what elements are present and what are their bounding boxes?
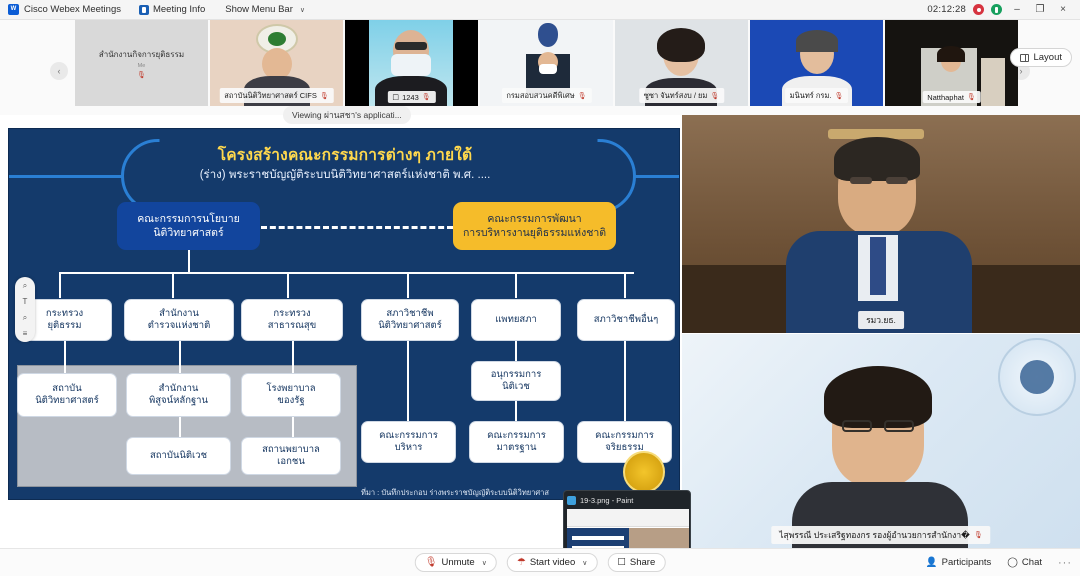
- node-standards-committee: คณะกรรมการ มาตรฐาน: [469, 421, 564, 463]
- node-line-1: คณะกรรมการนโยบาย: [137, 212, 240, 226]
- tile-self-label: Me: [138, 63, 146, 69]
- meeting-info-button[interactable]: Meeting Info: [129, 4, 215, 15]
- node-line-1: คณะกรรมการ: [487, 430, 546, 442]
- start-video-label: Start video: [530, 557, 575, 568]
- participant-tile[interactable]: สำนักงานกิจการยุติธรรม Me 🎙: [75, 20, 208, 106]
- share-label: Share: [630, 557, 655, 568]
- tile-display-name: สำนักงานกิจการยุติธรรม: [99, 48, 184, 61]
- tile-display-name: มนินทร์ กรม.: [790, 90, 832, 102]
- chevron-down-icon: ∨: [300, 6, 305, 14]
- record-stop-icon[interactable]: [973, 4, 984, 15]
- node-line-1: สภาวิชาชีพอื่นๆ: [594, 314, 659, 326]
- menu-icon[interactable]: ≡: [23, 328, 28, 339]
- close-button[interactable]: ×: [1055, 4, 1071, 15]
- tile-display-name: ซูซา จันทร์สงบ / ยม: [644, 90, 708, 102]
- node-forensic-institute: สถาบัน นิติวิทยาศาสตร์: [17, 373, 117, 417]
- filmstrip-prev-button[interactable]: ‹: [50, 62, 68, 80]
- node-line-2: นิติวิทยาศาสตร์: [378, 320, 442, 332]
- node-line-2: ของรัฐ: [277, 395, 304, 407]
- mic-muted-icon: 🎙: [320, 92, 329, 100]
- mic-muted-icon: 🎙: [710, 92, 719, 100]
- node-public-hospital: โรงพยาบาล ของรัฐ: [241, 373, 341, 417]
- node-line-2: ตำรวจแห่งชาติ: [148, 320, 210, 332]
- info-icon: [139, 5, 149, 15]
- people-icon: 👤: [926, 557, 938, 568]
- tile-display-name: 1243: [402, 93, 419, 102]
- node-line-1: สถาบันนิติเวช: [150, 450, 207, 462]
- node-line-2: การบริหารงานยุติธรรมแห่งชาติ: [463, 226, 606, 240]
- node-line-1: คณะกรรมการพัฒนา: [487, 212, 581, 226]
- mic-muted-icon: 🎙: [834, 92, 843, 100]
- chevron-down-icon[interactable]: ∨: [582, 559, 587, 567]
- connector-vertical: [188, 250, 190, 272]
- connector-vertical: [515, 341, 517, 361]
- participant-filmstrip: ‹ › สำนักงานกิจการยุติธรรม Me 🎙: [0, 20, 1080, 115]
- window-title-bar: W Cisco Webex Meetings Meeting Info Show…: [0, 0, 1080, 20]
- node-other-councils: สภาวิชาชีพอื่นๆ: [577, 299, 675, 341]
- node-line-1: สถาบัน: [52, 383, 81, 395]
- slide-subtitle: (ร่าง) พระราชบัญญัติระบบนิติวิทยาศาสตร์แ…: [9, 166, 680, 184]
- node-forensic-medicine-subcommittee: อนุกรรมการ นิติเวช: [471, 361, 561, 401]
- layout-label: Layout: [1033, 52, 1062, 63]
- node-line-2: ยุติธรรม: [47, 320, 81, 332]
- participant-tile[interactable]: สถาบันนิติวิทยาศาสตร์ CIFS 🎙: [210, 20, 343, 106]
- connector-vertical: [287, 272, 289, 298]
- node-line-2: สาธารณสุข: [268, 320, 316, 332]
- node-line-1: สถานพยาบาล: [262, 444, 320, 456]
- speaker-name: ไสุพรรณี ประเสริฐทองกร รองผู้อำนวยการสำน…: [779, 528, 970, 542]
- slide-title: โครงสร้างคณะกรรมการต่างๆ ภายใต้: [9, 142, 680, 167]
- share-button[interactable]: ☐ Share: [607, 553, 665, 572]
- node-line-2: พิสูจน์หลักฐาน: [149, 395, 208, 407]
- node-line-2: นิติวิทยาศาสตร์: [35, 395, 99, 407]
- connector-vertical: [407, 272, 409, 298]
- node-ministry-health: กระทรวง สาธารณสุข: [241, 299, 343, 341]
- more-options-button[interactable]: ···: [1058, 557, 1072, 569]
- chat-bubble-icon: ◯: [1007, 557, 1018, 568]
- viewing-status-badge: Viewing ผ่านสชา's applicati...: [283, 106, 411, 124]
- node-line-1: แพทยสภา: [495, 314, 537, 326]
- chat-button[interactable]: ◯ Chat: [1007, 557, 1042, 568]
- meeting-timer: 02:12:28: [927, 4, 966, 15]
- participants-button[interactable]: 👤 Participants: [926, 557, 991, 568]
- participant-tile[interactable]: ซูซา จันทร์สงบ / ยม 🎙: [615, 20, 748, 106]
- node-line-1: คณะกรรมการ: [379, 430, 438, 442]
- node-policy-committee: คณะกรรมการนโยบาย นิติวิทยาศาสตร์: [117, 202, 260, 250]
- connector-vertical: [179, 341, 181, 373]
- node-line-1: สำนักงาน: [159, 383, 199, 395]
- shared-content-slide[interactable]: โครงสร้างคณะกรรมการต่างๆ ภายใต้ (ร่าง) พ…: [8, 128, 680, 500]
- text-tool-icon[interactable]: T: [23, 296, 28, 307]
- maximize-button[interactable]: ❐: [1032, 4, 1048, 15]
- unmute-label: Unmute: [441, 557, 474, 568]
- titlebar-right-cluster: 02:12:28 – ❐ ×: [927, 4, 1076, 15]
- mic-muted-icon: 🎙: [425, 557, 438, 568]
- paint-app-icon: [567, 496, 576, 505]
- tile-name-badge: สถาบันนิติวิทยาศาสตร์ CIFS 🎙: [219, 88, 333, 103]
- connector-vertical: [179, 417, 181, 437]
- tile-name-badge: กรมสอบสวนคดีพิเศษ 🎙: [501, 88, 591, 103]
- unmute-button[interactable]: 🎙 Unmute ∨: [415, 553, 497, 572]
- tile-placeholder: สำนักงานกิจการยุติธรรม Me 🎙: [75, 20, 208, 106]
- connector-vertical: [624, 272, 626, 298]
- node-line-1: สำนักงาน: [159, 308, 199, 320]
- tile-display-name: Natthaphat: [927, 93, 964, 102]
- tile-display-name: กรมสอบสวนคดีพิเศษ: [506, 90, 574, 102]
- layout-button[interactable]: Layout: [1010, 48, 1072, 67]
- zoom-in-icon[interactable]: ⌕: [23, 312, 27, 323]
- connector-vertical: [515, 272, 517, 298]
- camera-off-icon: ☂: [517, 557, 526, 568]
- meeting-control-bar: 🎙 Unmute ∨ ☂ Start video ∨ ☐ Share 👤 Par…: [0, 548, 1080, 576]
- preview-ribbon: [567, 509, 689, 527]
- connector-vertical: [292, 417, 294, 437]
- connector-vertical: [515, 401, 517, 421]
- secondary-controls: 👤 Participants ◯ Chat ···: [926, 557, 1072, 569]
- connector-vertical: [59, 272, 61, 298]
- tile-display-name: สถาบันนิติวิทยาศาสตร์ CIFS: [224, 90, 317, 102]
- connector-horizontal-bus: [59, 272, 634, 274]
- tile-name-badge: มนินทร์ กรม. 🎙: [785, 88, 849, 103]
- primary-controls: 🎙 Unmute ∨ ☂ Start video ∨ ☐ Share: [415, 553, 666, 572]
- mic-muted-icon: 🎙: [974, 531, 983, 539]
- node-line-2: นิติวิทยาศาสตร์: [153, 226, 223, 240]
- participants-label: Participants: [942, 557, 992, 568]
- start-video-button[interactable]: ☂ Start video ∨: [507, 553, 598, 572]
- connector-vertical: [292, 341, 294, 373]
- video-pane-active-speaker[interactable]: รมว.ยธ.: [682, 115, 1080, 333]
- organization-emblem-icon: [623, 451, 665, 493]
- layout-icon: [1020, 54, 1029, 62]
- node-line-2: นิติเวช: [502, 381, 530, 393]
- connector-vertical: [407, 341, 409, 421]
- tile-name-badge: Natthaphat 🎙: [922, 91, 981, 103]
- minimize-button[interactable]: –: [1009, 4, 1025, 15]
- connector-vertical: [172, 272, 174, 298]
- preview-window-title: 19-3.png - Paint: [580, 496, 633, 505]
- chat-label: Chat: [1022, 557, 1042, 568]
- node-line-1: คณะกรรมการ: [595, 430, 654, 442]
- mic-muted-icon: 🎙: [967, 93, 976, 101]
- tile-name-badge: ซูซา จันทร์สงบ / ยม 🎙: [639, 88, 724, 103]
- node-line-1: สภาวิชาชีพ: [386, 308, 433, 320]
- participant-tile[interactable]: Natthaphat 🎙: [885, 20, 1018, 106]
- node-royal-police: สำนักงาน ตำรวจแห่งชาติ: [124, 299, 234, 341]
- node-line-2: เอกชน: [277, 456, 305, 468]
- mic-muted-icon: 🎙: [137, 71, 146, 79]
- mic-muted-icon: 🎙: [578, 92, 587, 100]
- node-line-2: บริหาร: [395, 442, 423, 454]
- mic-muted-icon: 🎙: [422, 93, 431, 101]
- node-line-2: มาตรฐาน: [497, 442, 537, 454]
- node-line-1: กระทรวง: [273, 308, 310, 320]
- slide-source-note: ที่มา : บันทึกประกอบ ร่างพระราชบัญญัติระ…: [361, 487, 549, 499]
- tile-name-badge: ☐ 1243 🎙: [387, 91, 435, 103]
- node-private-clinic: สถานพยาบาล เอกชน: [241, 437, 341, 475]
- app-title: Cisco Webex Meetings: [24, 4, 121, 15]
- node-line-1: โรงพยาบาล: [266, 383, 315, 395]
- participant-tile[interactable]: กรมสอบสวนคดีพิเศษ 🎙: [480, 20, 613, 106]
- node-executive-committee: คณะกรรมการ บริหาร: [361, 421, 456, 463]
- participant-tile[interactable]: ☐ 1243 🎙: [345, 20, 478, 106]
- node-line-1: อนุกรรมการ: [491, 369, 542, 381]
- meeting-info-label: Meeting Info: [153, 4, 205, 15]
- tile-video-icon: ☐: [392, 93, 399, 102]
- webex-meeting-window: W Cisco Webex Meetings Meeting Info Show…: [0, 0, 1080, 576]
- video-name-badge: รมว.ยธ.: [858, 311, 904, 329]
- video-name-badge: ไสุพรรณี ประเสริฐทองกร รองผู้อำนวยการสำน…: [771, 526, 990, 544]
- connector-dashed: [261, 226, 453, 229]
- preview-header: 19-3.png - Paint: [567, 494, 687, 507]
- show-menu-bar-button[interactable]: Show Menu Bar ∨: [215, 4, 315, 15]
- show-menu-bar-label: Show Menu Bar: [225, 4, 293, 15]
- connector-vertical: [624, 341, 626, 421]
- zoom-out-icon[interactable]: ⌕: [23, 280, 27, 291]
- record-pause-icon[interactable]: [991, 4, 1002, 15]
- connector-vertical: [64, 341, 66, 373]
- node-evidence-office: สำนักงาน พิสูจน์หลักฐาน: [126, 373, 231, 417]
- node-forensic-professional-council: สภาวิชาชีพ นิติวิทยาศาสตร์: [361, 299, 459, 341]
- speaker-name: รมว.ยธ.: [866, 313, 896, 327]
- app-identity: W Cisco Webex Meetings: [4, 4, 129, 15]
- participant-tile[interactable]: มนินทร์ กรม. 🎙: [750, 20, 883, 106]
- share-icon: ☐: [617, 557, 626, 568]
- webex-logo-icon: W: [8, 4, 19, 15]
- annotation-toolbar[interactable]: ⌕ T ⌕ ≡: [15, 277, 35, 342]
- node-medical-council: แพทยสภา: [471, 299, 561, 341]
- video-pane-secondary[interactable]: ไสุพรรณี ประเสริฐทองกร รองผู้อำนวยการสำน…: [682, 334, 1080, 548]
- node-forensic-medicine-institute: สถาบันนิติเวช: [126, 437, 231, 475]
- node-development-committee: คณะกรรมการพัฒนา การบริหารงานยุติธรรมแห่ง…: [453, 202, 616, 250]
- chevron-down-icon[interactable]: ∨: [482, 559, 487, 567]
- filmstrip-tiles: สำนักงานกิจการยุติธรรม Me 🎙 สถาบันนิติวิ…: [75, 20, 1020, 115]
- node-line-1: กระทรวง: [46, 308, 83, 320]
